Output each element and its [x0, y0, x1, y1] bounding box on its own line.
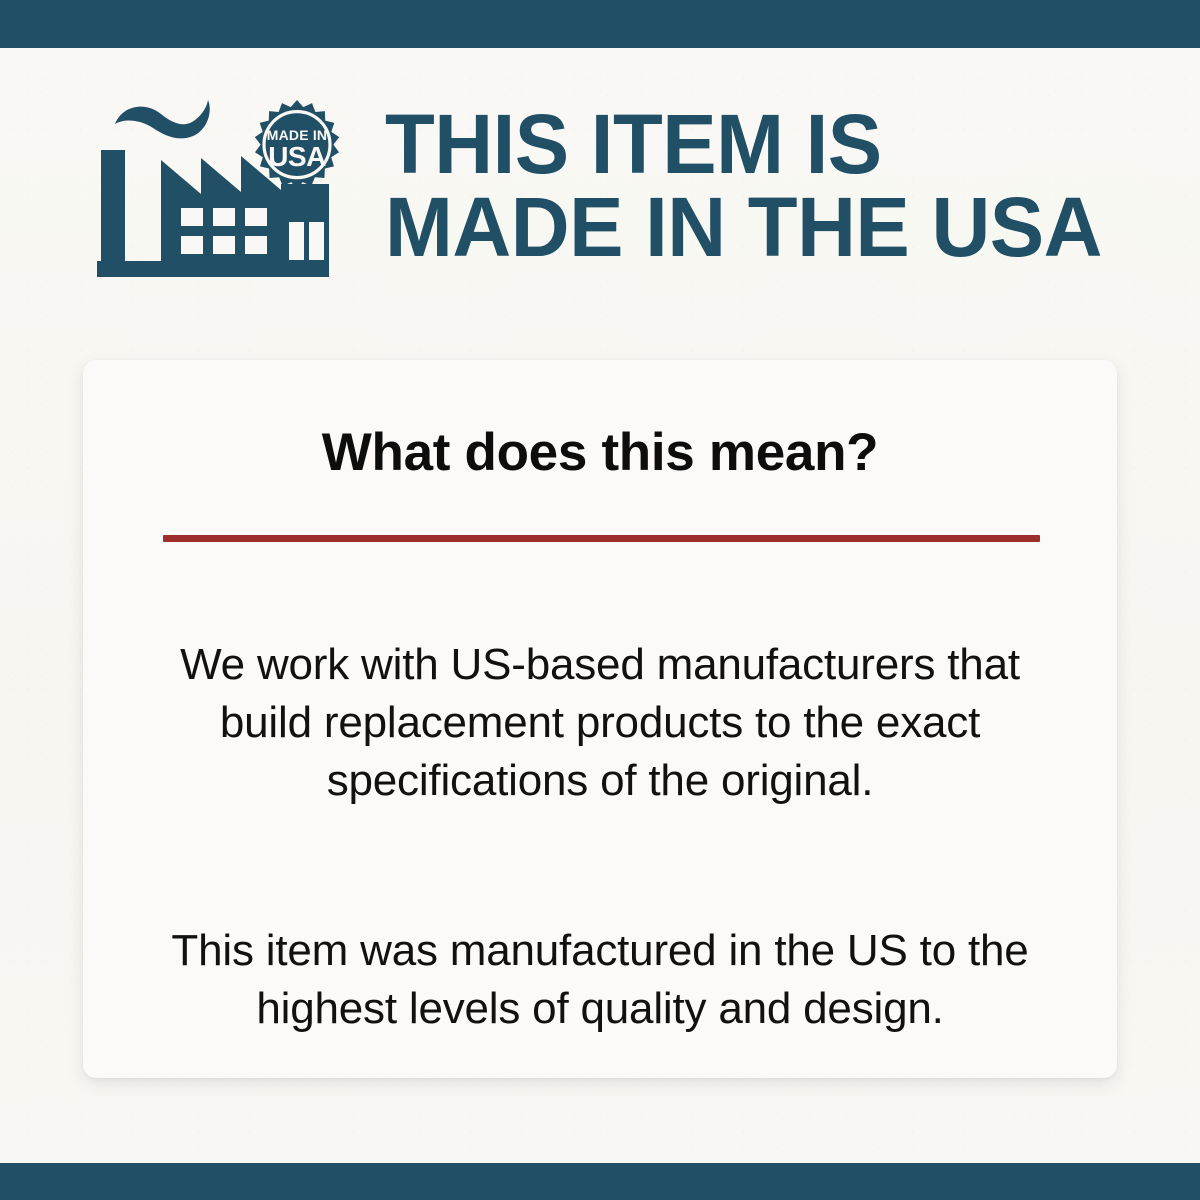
smoke-icon	[115, 100, 210, 138]
header: MADE IN USA THIS ITEM IS MADE IN THE USA	[0, 48, 1200, 348]
made-in-usa-infographic: MADE IN USA THIS ITEM IS MADE IN THE USA…	[0, 0, 1200, 1200]
explanation-card: What does this mean? We work with US-bas…	[83, 360, 1117, 1078]
made-in-usa-badge-icon: MADE IN USA	[255, 100, 339, 189]
chimney-icon	[101, 150, 125, 270]
page-title: THIS ITEM IS MADE IN THE USA	[385, 103, 1151, 269]
headline-line-1: THIS ITEM IS	[385, 97, 882, 191]
factory-logo: MADE IN USA	[97, 98, 345, 283]
heading-divider	[163, 535, 1040, 542]
factory-base-icon	[97, 261, 329, 277]
headline-line-2: MADE IN THE USA	[385, 186, 1151, 269]
badge-line2-text: USA	[268, 141, 326, 172]
card-body: We work with US-based manufacturers that…	[133, 592, 1067, 1082]
card-paragraph-1: We work with US-based manufacturers that…	[133, 636, 1067, 810]
bottom-accent-band	[0, 1163, 1200, 1200]
top-accent-band	[0, 0, 1200, 48]
card-paragraph-2: This item was manufactured in the US to …	[133, 922, 1067, 1038]
card-heading: What does this mean?	[83, 422, 1117, 483]
